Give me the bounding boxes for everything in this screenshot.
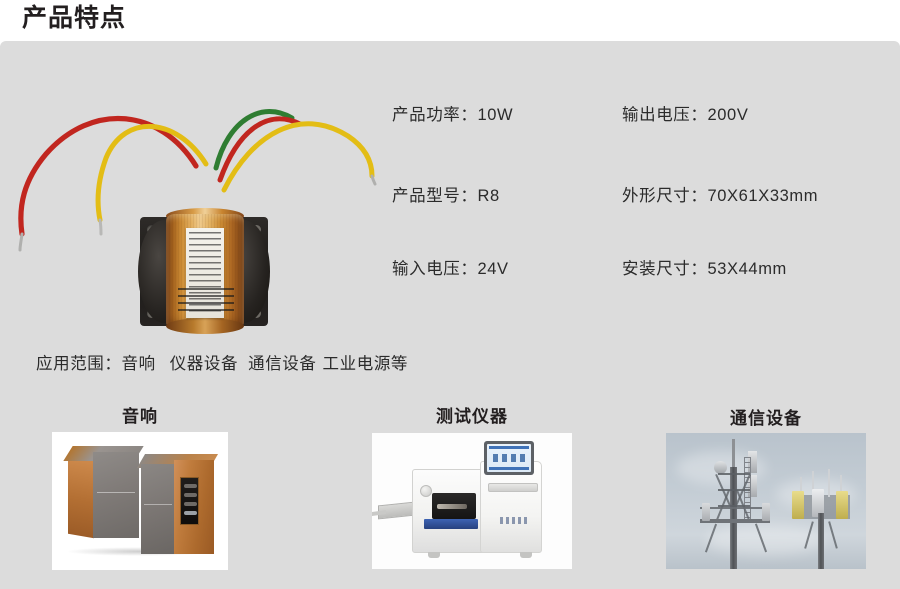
tower2-panel-antenna xyxy=(792,491,804,519)
application-item-instruments: 仪器设备 xyxy=(170,355,238,373)
instrument-knob xyxy=(420,485,432,497)
speaker-back-wood-side xyxy=(68,455,94,539)
gallery-caption-test-instrument: 测试仪器 xyxy=(372,402,572,427)
tower2-panel-antenna xyxy=(836,491,848,519)
spec-product-model: 产品型号：R8 xyxy=(392,182,500,206)
gallery-image-speakers xyxy=(52,432,228,570)
gallery-caption-audio: 音响 xyxy=(52,402,228,427)
instrument-brand-logo xyxy=(500,517,530,524)
specification-list: 产品功率：10W 产品型号：R8 输入电压：24V 输出电压：200V 外形尺寸… xyxy=(0,0,900,330)
instrument-top-slot xyxy=(488,483,538,492)
spec-product-power: 产品功率：10W xyxy=(392,101,513,125)
spec-mounting-dimensions: 安装尺寸：53X44mm xyxy=(622,255,787,279)
gallery-caption-communication: 通信设备 xyxy=(666,404,866,429)
speaker-back-grille xyxy=(93,452,139,538)
gallery-image-towers xyxy=(666,433,866,569)
speaker-port-vent xyxy=(180,477,199,525)
application-range-line: 应用范围：音响仪器设备通信设备工业电源等 xyxy=(36,350,408,374)
gallery-image-instrument xyxy=(372,433,572,569)
speaker-front-grille xyxy=(141,464,175,554)
spec-input-voltage: 输入电压：24V xyxy=(392,255,509,279)
instrument-blue-tray xyxy=(424,519,478,529)
application-range-label: 应用范围： xyxy=(36,355,122,373)
product-feature-page: 产品特点 xyxy=(0,0,900,589)
spec-outline-dimensions: 外形尺寸：70X61X33mm xyxy=(622,182,818,206)
spec-output-voltage: 输出电压：200V xyxy=(622,101,748,125)
application-item-industrial-power: 工业电源等 xyxy=(323,355,409,373)
instrument-sample-window xyxy=(432,493,476,519)
tower2-mast xyxy=(818,513,824,569)
application-item-communication: 通信设备 xyxy=(248,355,316,373)
tower-main-mast xyxy=(730,467,737,569)
tower-platform xyxy=(700,519,770,523)
instrument-touchscreen[interactable] xyxy=(484,441,534,475)
application-item-audio: 音响 xyxy=(122,355,156,373)
